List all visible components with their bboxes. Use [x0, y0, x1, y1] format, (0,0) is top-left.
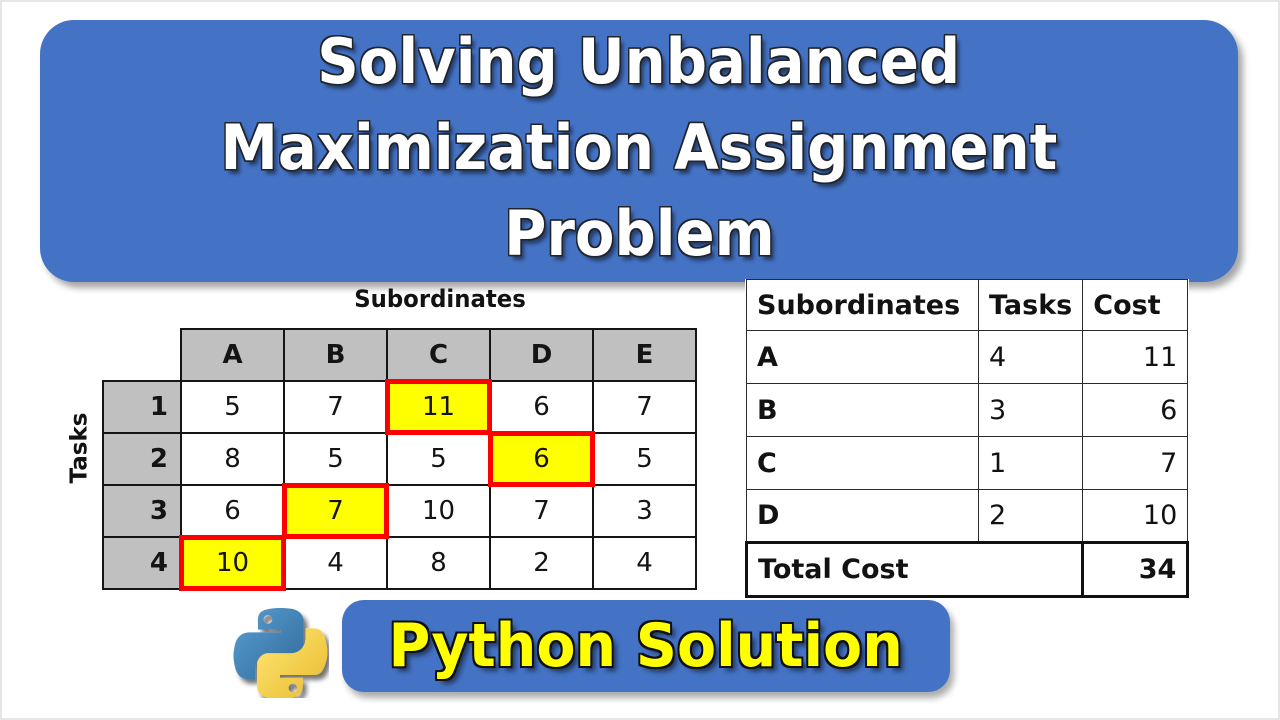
matrix-cell-3a: 6	[181, 485, 284, 537]
title-line-2: Maximization Assignment	[221, 105, 1058, 191]
matrix-cell-4a: 10	[181, 537, 284, 589]
matrix-cell-4d: 2	[490, 537, 593, 589]
matrix-cell-4c: 8	[387, 537, 490, 589]
matrix-cell-3d: 7	[490, 485, 593, 537]
matrix-row-header-4: 4	[103, 537, 181, 589]
result-cost-d: 10	[1083, 490, 1188, 543]
result-header-tasks: Tasks	[979, 280, 1083, 331]
title-line-1: Solving Unbalanced	[317, 19, 960, 105]
table-row: C 1 7	[747, 437, 1188, 490]
python-solution-label: Python Solution	[389, 611, 903, 681]
matrix-cell-3c: 10	[387, 485, 490, 537]
matrix-corner-cell	[103, 329, 181, 381]
result-subordinate-a: A	[747, 331, 979, 384]
result-header-row: Subordinates Tasks Cost	[747, 280, 1188, 331]
matrix-col-header-e: E	[593, 329, 696, 381]
result-header-subordinates: Subordinates	[747, 280, 979, 331]
matrix-col-header-a: A	[181, 329, 284, 381]
result-subordinate-c: C	[747, 437, 979, 490]
matrix-row-header-3: 3	[103, 485, 181, 537]
result-header-cost: Cost	[1083, 280, 1188, 331]
result-cost-b: 6	[1083, 384, 1188, 437]
matrix-row: 4 10 4 8 2 4	[103, 537, 696, 589]
matrix-cell-1a: 5	[181, 381, 284, 433]
table-row: B 3 6	[747, 384, 1188, 437]
matrix-row: 2 8 5 5 6 5	[103, 433, 696, 485]
table-row: D 2 10	[747, 490, 1188, 543]
total-cost-value: 34	[1083, 543, 1188, 597]
matrix-row-header-1: 1	[103, 381, 181, 433]
result-task-c: 1	[979, 437, 1083, 490]
matrix-cell-2b: 5	[284, 433, 387, 485]
matrix-cell-2e: 5	[593, 433, 696, 485]
total-cost-label: Total Cost	[747, 543, 1083, 597]
matrix-row: 1 5 7 11 6 7	[103, 381, 696, 433]
matrix-col-header-b: B	[284, 329, 387, 381]
assignment-result-table: Subordinates Tasks Cost A 4 11 B 3 6 C 1…	[745, 279, 1189, 598]
matrix-row-header-2: 2	[103, 433, 181, 485]
matrix-cell-3e: 3	[593, 485, 696, 537]
title-line-3: Problem	[504, 191, 775, 277]
matrix-header-row: A B C D E	[103, 329, 696, 381]
python-logo-icon	[233, 602, 329, 698]
matrix-cell-2c: 5	[387, 433, 490, 485]
matrix-cell-1e: 7	[593, 381, 696, 433]
cost-matrix-table: A B C D E 1 5 7 11 6 7 2 8 5 5 6 5	[102, 328, 697, 590]
result-task-d: 2	[979, 490, 1083, 543]
python-solution-banner: Python Solution	[342, 600, 950, 692]
matrix-col-header-d: D	[490, 329, 593, 381]
matrix-cell-2d: 6	[490, 433, 593, 485]
result-cost-c: 7	[1083, 437, 1188, 490]
slide-canvas: Solving Unbalanced Maximization Assignme…	[0, 0, 1280, 720]
result-subordinate-b: B	[747, 384, 979, 437]
result-cost-a: 11	[1083, 331, 1188, 384]
matrix-cell-1c: 11	[387, 381, 490, 433]
result-total-row: Total Cost 34	[747, 543, 1188, 597]
matrix-top-axis-label: Subordinates	[193, 285, 687, 313]
matrix-cell-1d: 6	[490, 381, 593, 433]
result-task-b: 3	[979, 384, 1083, 437]
table-row: A 4 11	[747, 331, 1188, 384]
matrix-side-axis-label: Tasks	[66, 413, 92, 484]
matrix-cell-4b: 4	[284, 537, 387, 589]
matrix-cell-2a: 8	[181, 433, 284, 485]
matrix-cell-3b: 7	[284, 485, 387, 537]
result-task-a: 4	[979, 331, 1083, 384]
matrix-cell-4e: 4	[593, 537, 696, 589]
title-banner: Solving Unbalanced Maximization Assignme…	[40, 20, 1238, 282]
matrix-cell-1b: 7	[284, 381, 387, 433]
matrix-col-header-c: C	[387, 329, 490, 381]
matrix-row: 3 6 7 10 7 3	[103, 485, 696, 537]
result-subordinate-d: D	[747, 490, 979, 543]
